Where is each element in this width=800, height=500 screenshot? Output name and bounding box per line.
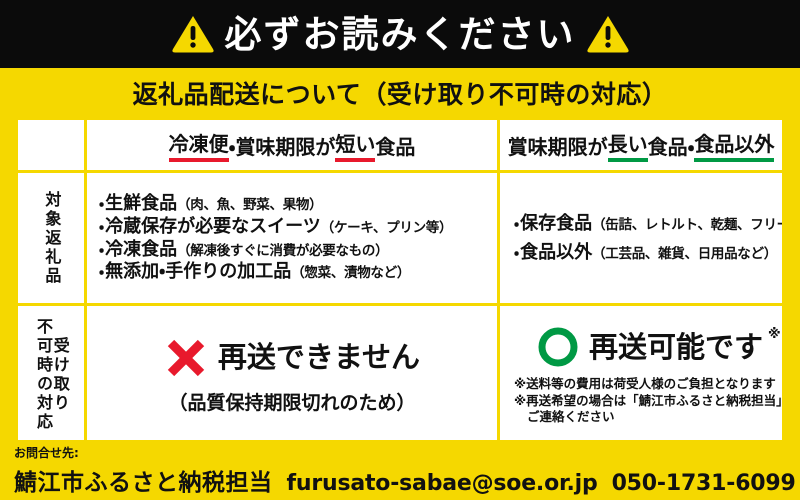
cell-left-items: ・生鮮食品（肉、魚、野菜、果物） ・冷蔵保存が必要なスイーツ（ケーキ、プリン等）… [87, 173, 497, 303]
table-row: 不可時の対応 受け取り 再送できません （品質保持期限切れのため） [18, 306, 782, 444]
cell-right-items: ・保存食品（缶詰、レトルト、乾麺、フリーズドライ） ・食品以外（工芸品、雑貨、日… [500, 173, 782, 303]
note-list: ※送料等の費用は荷受人様のご負担となります ※再送希望の場合は「鯖江市ふるさと納… [514, 376, 782, 425]
note-line: ※送料等の費用は荷受人様のご負担となります [514, 376, 782, 392]
bullet-icon: ・ [99, 263, 104, 281]
bullet-icon: ・ [514, 215, 519, 233]
action-block-no-resend: 再送できません （品質保持期限切れのため） [87, 306, 497, 444]
bullet-list-right: ・保存食品（缶詰、レトルト、乾麺、フリーズドライ） ・食品以外（工芸品、雑貨、日… [500, 173, 782, 303]
list-item-sub: （肉、魚、野菜、果物） [177, 197, 322, 213]
contact-email[interactable]: furusato-sabae@soe.or.jp [287, 471, 598, 496]
list-item-sub: （缶詰、レトルト、乾麺、フリーズドライ） [592, 217, 782, 233]
vertical-label: 不可時の対応 受け取り [18, 306, 84, 444]
list-item: ・保存食品（缶詰、レトルト、乾麺、フリーズドライ） [514, 214, 782, 234]
cross-mark-icon [164, 336, 208, 380]
row-label-text: 対象返礼品 [43, 191, 60, 286]
column-header-right-seg2: 長い [608, 128, 648, 162]
bullet-icon: ・ [514, 244, 519, 262]
row-label-text-secondary: 不可時の対応 [34, 318, 51, 432]
list-item: ・冷凍食品（解凍後すぐに消費が必要なもの） [99, 240, 497, 260]
list-item-main: 冷凍食品 [105, 239, 177, 260]
list-item-main: 食品以外 [520, 242, 592, 263]
list-item-main: 保存食品 [520, 213, 592, 234]
list-item-sub: （ケーキ、プリン等） [321, 220, 452, 236]
list-item-sub: （惣菜、漬物など） [291, 265, 410, 281]
list-item-sub: （工芸品、雑貨、日用品など） [592, 246, 777, 262]
action-headline: 再送できません [164, 336, 420, 380]
bullet-icon: ・ [99, 218, 104, 236]
contact-label: お問合せ先: [14, 444, 800, 461]
vertical-label: 対象返礼品 [18, 173, 84, 303]
bullet-list-left: ・生鮮食品（肉、魚、野菜、果物） ・冷蔵保存が必要なスイーツ（ケーキ、プリン等）… [87, 173, 497, 303]
subtitle-text: 返礼品配送について（受け取り不可時の対応） [133, 75, 668, 111]
column-header-right-seg1: 賞味期限が [508, 131, 608, 160]
note-line: ※再送希望の場合は「鯖江市ふるさと納税担当」まで [514, 393, 782, 409]
warning-triangle-icon [586, 14, 630, 54]
warning-triangle-icon [171, 14, 215, 54]
table-row: 対象返礼品 ・生鮮食品（肉、魚、野菜、果物） ・冷蔵保存が必要なスイーツ（ケーキ… [18, 173, 782, 303]
column-header-left-seg4: 食品 [375, 131, 415, 160]
cell-right-action: 再送可能です ※ ※送料等の費用は荷受人様のご負担となります ※再送希望の場合は… [500, 306, 782, 444]
row-label-target-gifts: 対象返礼品 [18, 173, 84, 303]
action-block-resend-ok: 再送可能です ※ ※送料等の費用は荷受人様のご負担となります ※再送希望の場合は… [500, 306, 782, 444]
list-item: ・無添加・手作りの加工品（惣菜、漬物など） [99, 262, 497, 282]
list-item: ・食品以外（工芸品、雑貨、日用品など） [514, 243, 782, 263]
header-band: 必ずお読みください [0, 0, 800, 68]
column-header-left-seg1: 冷凍便 [169, 128, 229, 162]
bullet-icon: ・ [99, 241, 104, 259]
note-line: ご連絡ください [514, 409, 782, 425]
bullet-icon: ・ [99, 195, 104, 213]
action-text: 再送できません [218, 343, 420, 372]
subtitle-band: 返礼品配送について（受け取り不可時の対応） [0, 68, 800, 118]
row-label-undeliverable-response: 不可時の対応 受け取り [18, 306, 84, 444]
page-title: 必ずお読みください [225, 16, 576, 53]
contact-phone[interactable]: 050-1731-6099 [612, 471, 796, 496]
contact-row: 鯖江市ふるさと納税担当 furusato-sabae@soe.or.jp 050… [14, 463, 800, 497]
action-text: 再送可能です [589, 333, 763, 362]
contact-org-name: 鯖江市ふるさと納税担当 [14, 463, 273, 497]
asterisk-mark: ※ [768, 327, 781, 342]
column-header-right-seg3: 食品・ [648, 131, 695, 160]
column-header-right-seg4: 食品以外 [694, 128, 774, 162]
list-item-main: 無添加・手作りの加工品 [105, 261, 291, 282]
list-item-sub: （解凍後すぐに消費が必要なもの） [177, 243, 388, 259]
row-label-text-primary: 受け取り [51, 337, 68, 413]
contact-footer: お問合せ先: 鯖江市ふるさと納税担当 furusato-sabae@soe.or… [0, 440, 800, 500]
cell-left-action: 再送できません （品質保持期限切れのため） [87, 306, 497, 444]
poster-root: 必ずお読みください 返礼品配送について（受け取り不可時の対応） 冷凍便・賞味期限… [0, 0, 800, 500]
list-item: ・冷蔵保存が必要なスイーツ（ケーキ、プリン等） [99, 217, 497, 237]
column-header-left-seg2: ・賞味期限が [229, 131, 336, 160]
column-header-left: 冷凍便・賞味期限が短い食品 [87, 120, 497, 170]
action-headline: 再送可能です ※ [514, 325, 782, 369]
list-item-main: 生鮮食品 [105, 193, 177, 214]
list-item-main: 冷蔵保存が必要なスイーツ [105, 216, 321, 237]
column-header-right: 賞味期限が長い食品・食品以外 [500, 120, 782, 170]
action-note: （品質保持期限切れのため） [168, 388, 415, 415]
circle-mark-icon [536, 325, 580, 369]
info-table: 冷凍便・賞味期限が短い食品 賞味期限が長い食品・食品以外 対象返礼品 ・生鮮食品… [18, 120, 782, 438]
table-header-row: 冷凍便・賞味期限が短い食品 賞味期限が長い食品・食品以外 [18, 120, 782, 170]
list-item: ・生鮮食品（肉、魚、野菜、果物） [99, 194, 497, 214]
table-corner-cell [18, 120, 84, 170]
column-header-left-seg3: 短い [335, 128, 375, 162]
